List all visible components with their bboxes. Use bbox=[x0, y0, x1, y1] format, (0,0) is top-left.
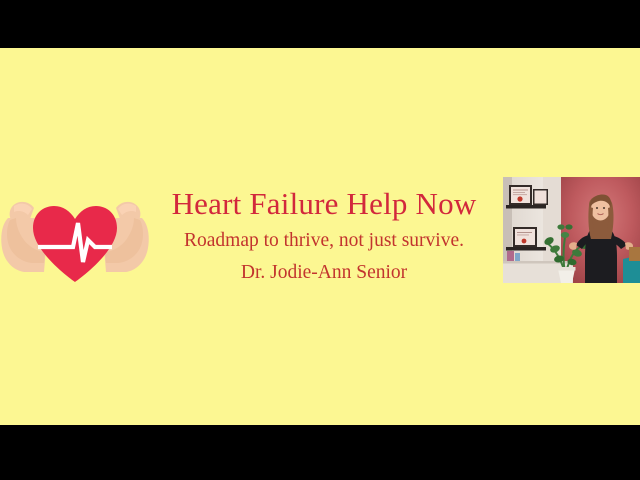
letterbox-bar-top bbox=[0, 0, 640, 48]
letterbox-bar-bottom bbox=[0, 425, 640, 480]
banner-tagline: Roadmap to thrive, not just survive. bbox=[148, 228, 500, 254]
framed-certificate-upper-right bbox=[533, 189, 548, 205]
banner-author-name: Dr. Jodie-Ann Senior bbox=[148, 260, 500, 286]
video-frame: Heart Failure Help Now Roadmap to thrive… bbox=[0, 0, 640, 480]
presenter-photo bbox=[503, 177, 640, 283]
page-title: Heart Failure Help Now bbox=[148, 186, 500, 222]
channel-banner: Heart Failure Help Now Roadmap to thrive… bbox=[0, 48, 640, 425]
framed-certificate-lower bbox=[513, 227, 537, 247]
heart-with-flexed-arms-logo bbox=[0, 190, 150, 290]
banner-text-block: Heart Failure Help Now Roadmap to thrive… bbox=[148, 186, 500, 286]
framed-certificate-upper bbox=[509, 185, 532, 205]
